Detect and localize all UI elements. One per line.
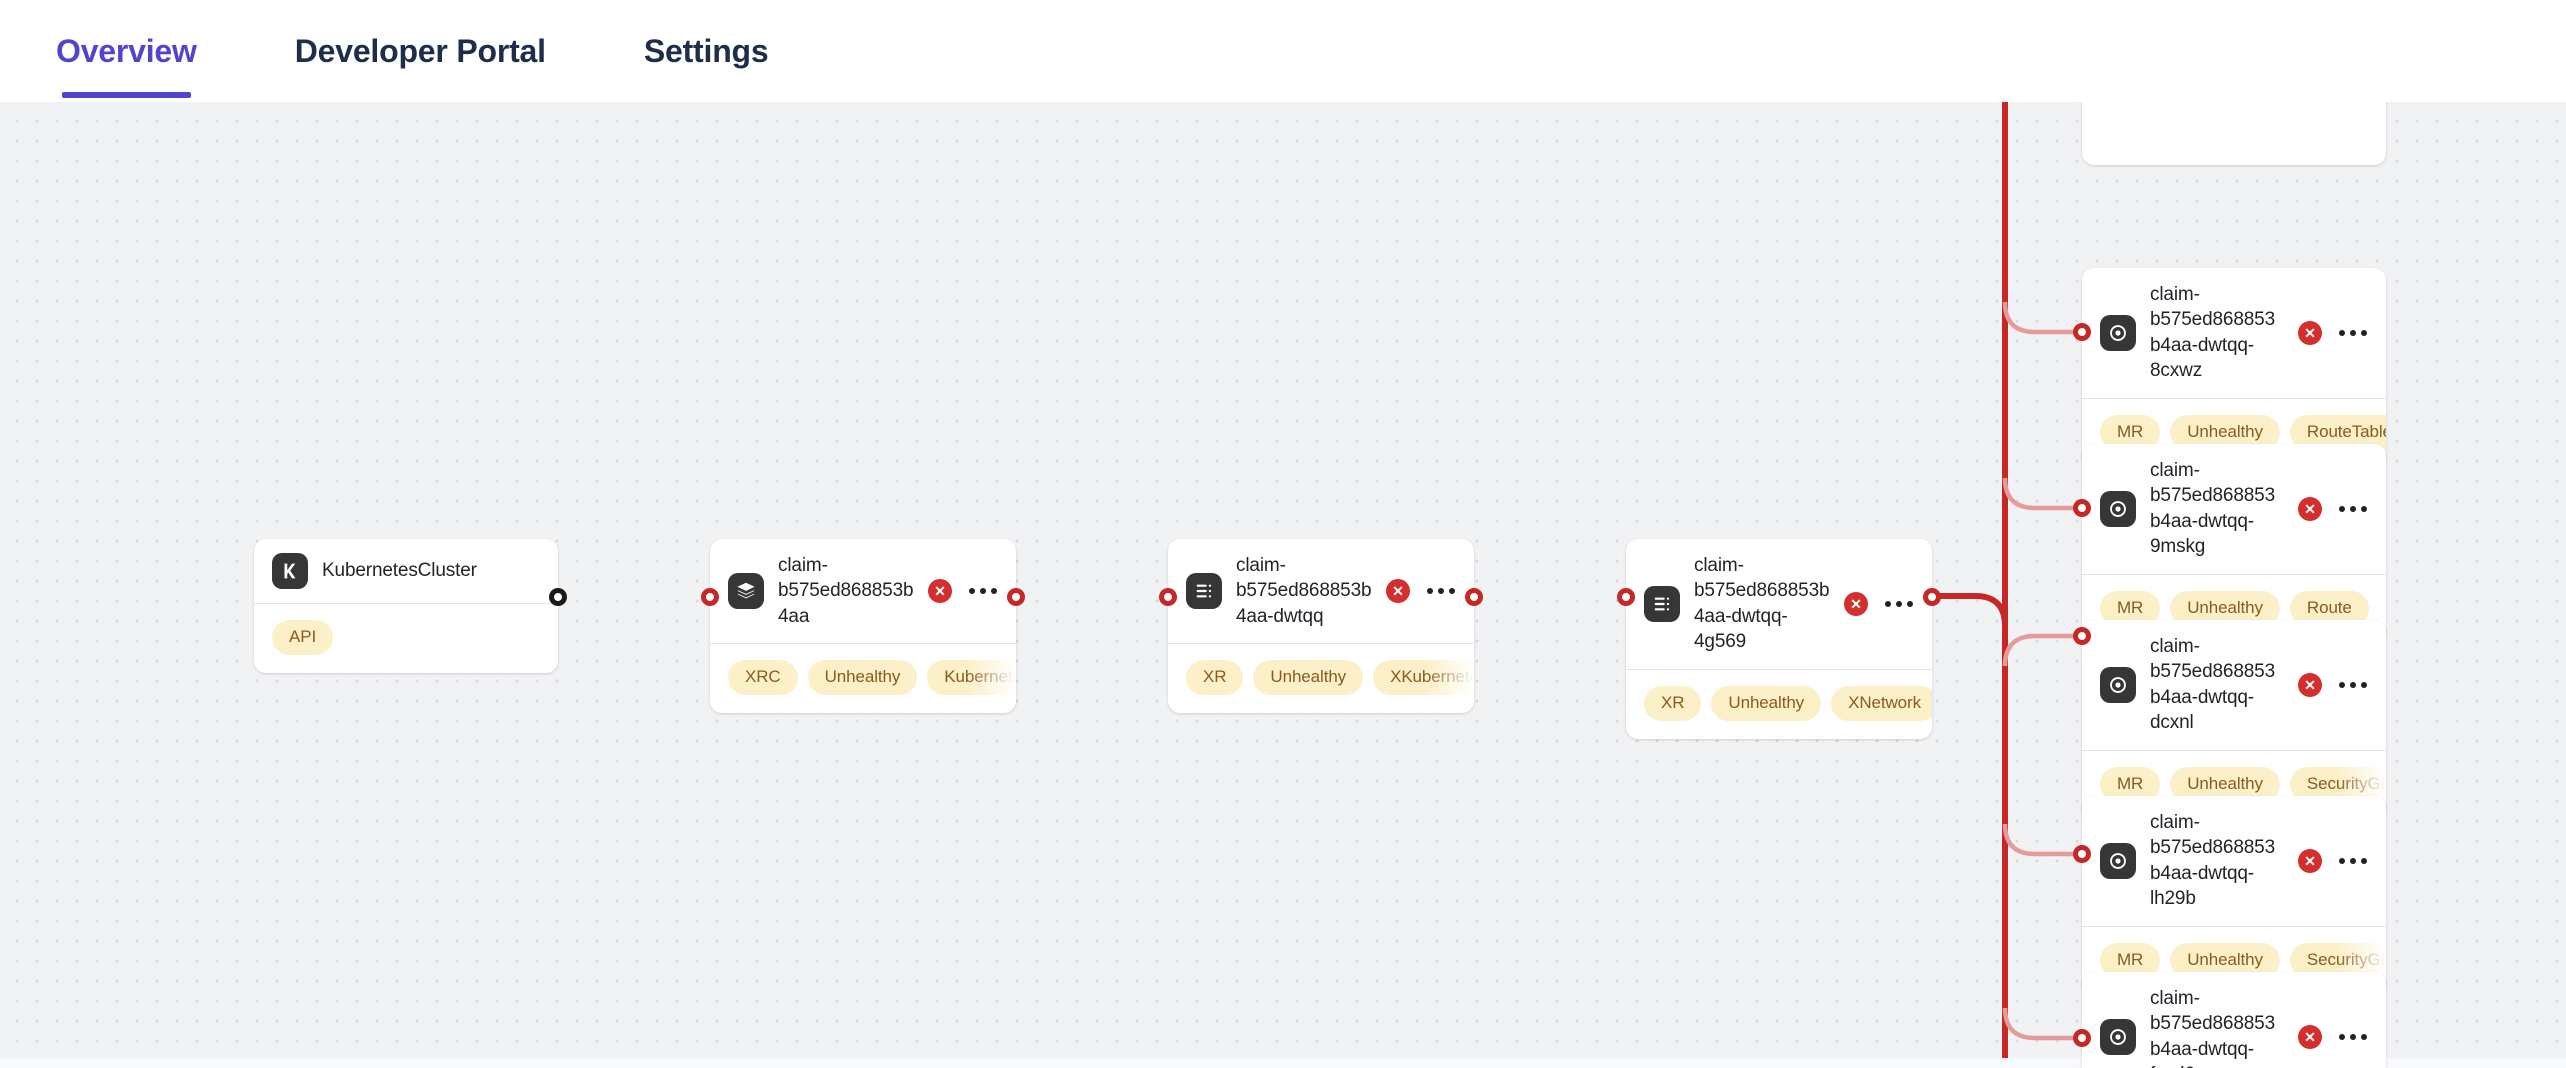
tag-health: Unhealthy — [808, 660, 918, 695]
list-rows-icon — [1644, 586, 1680, 622]
node-menu-button[interactable] — [966, 579, 1000, 603]
node-title: claim-b575ed868853b4aa-dwtqq-4g569 — [1694, 553, 1830, 655]
handle-target-claim-b575ed868853b4aa[interactable] — [701, 588, 719, 606]
status-badge-error: ✕ — [928, 579, 952, 603]
node-claim-dwtqq-9mskg[interactable]: claim-b575ed868853b4aa-dwtqq-9mskg ✕ MR … — [2082, 444, 2386, 644]
edge-branch-9mskg — [2005, 478, 2082, 508]
layers-icon — [728, 573, 764, 609]
node-header: claim-b575ed868853b4aa-dwtqq-8cxwz ✕ — [2082, 268, 2386, 398]
node-title: claim-b575ed868853b4aa-dwtqq-9mskg — [2150, 458, 2284, 560]
tab-overview[interactable]: Overview — [56, 0, 197, 102]
node-header: claim-b575ed868853b4aa-dwtqq ✕ — [1168, 539, 1474, 643]
edge-branch-8cxwz — [2005, 302, 2082, 332]
node-header: claim-b575ed868853b4aa-dwtqq-dcxnl ✕ — [2082, 620, 2386, 750]
node-kubernetes-cluster[interactable]: KubernetesCluster API — [254, 539, 558, 673]
handle-target-claim-dwtqq-8cxwz[interactable] — [2073, 323, 2091, 341]
status-badge-error: ✕ — [1844, 592, 1868, 616]
node-claim-dwtqq-4g569[interactable]: claim-b575ed868853b4aa-dwtqq-4g569 ✕ XR … — [1626, 539, 1932, 739]
handle-target-claim-dwtqq-4g569[interactable] — [1617, 588, 1635, 606]
tag-kind: XRC — [728, 660, 798, 695]
node-partial-top[interactable] — [2082, 102, 2386, 165]
status-badge-error: ✕ — [2298, 849, 2322, 873]
node-header: claim-b575ed868853b4aa-dwtqq-4g569 ✕ — [1626, 539, 1932, 669]
tab-settings-label: Settings — [644, 33, 769, 70]
node-tag-list: XRC Unhealthy KubernetesCluster — [710, 644, 1016, 713]
node-menu-button[interactable] — [2336, 497, 2370, 521]
node-title: claim-b575ed868853b4aa-dwtqq — [1236, 553, 1372, 629]
node-title: claim-b575ed868853b4aa-dwtqq-lh29b — [2150, 810, 2284, 912]
status-badge-error: ✕ — [2298, 673, 2322, 697]
handle-target-claim-dwtqq-dcxnl[interactable] — [2073, 627, 2091, 645]
node-tag-list: API — [254, 604, 558, 673]
node-claim-dwtqq-fzcd6[interactable]: claim-b575ed868853b4aa-dwtqq-fzcd6 ✕ MR … — [2082, 972, 2386, 1068]
main-tab-bar: Overview Developer Portal Settings — [0, 0, 2566, 102]
node-title: claim-b575ed868853b4aa-dwtqq-fzcd6 — [2150, 986, 2284, 1068]
edge-branch-dcxnl — [2005, 636, 2082, 666]
handle-source-claim-dwtqq-4g569[interactable] — [1923, 588, 1941, 606]
tag-type: XKubernetesCluster — [1373, 660, 1474, 695]
node-header: claim-b575ed868853b4aa-dwtqq-9mskg ✕ — [2082, 444, 2386, 574]
node-menu-button[interactable] — [2336, 673, 2370, 697]
status-badge-error: ✕ — [1386, 579, 1410, 603]
node-claim-dwtqq-dcxnl[interactable]: claim-b575ed868853b4aa-dwtqq-dcxnl ✕ MR … — [2082, 620, 2386, 820]
tab-developer-portal[interactable]: Developer Portal — [295, 0, 546, 102]
resource-graph-canvas[interactable]: KubernetesCluster API claim-b575ed868853… — [0, 102, 2566, 1068]
tag-kind: XR — [1186, 660, 1243, 695]
handle-target-claim-dwtqq-fzcd6[interactable] — [2073, 1029, 2091, 1047]
tab-overview-label: Overview — [56, 33, 197, 70]
node-tag-list: XR Unhealthy XKubernetesCluster — [1168, 644, 1474, 713]
node-header: claim-b575ed868853b4aa-dwtqq-lh29b ✕ — [2082, 796, 2386, 926]
edge-branch-lh29b — [2005, 824, 2082, 854]
node-header: KubernetesCluster — [254, 539, 558, 603]
node-menu-button[interactable] — [2336, 1025, 2370, 1049]
node-title: claim-b575ed868853b4aa-dwtqq-8cxwz — [2150, 282, 2284, 384]
node-claim-dwtqq[interactable]: claim-b575ed868853b4aa-dwtqq ✕ XR Unheal… — [1168, 539, 1474, 713]
edge-branch-fzcd6 — [2005, 1008, 2082, 1038]
target-icon — [2100, 667, 2136, 703]
tag-type: XNetwork — [1831, 686, 1932, 721]
tag-type: KubernetesCluster — [927, 660, 1016, 695]
status-badge-error: ✕ — [2298, 321, 2322, 345]
status-badge-error: ✕ — [2298, 497, 2322, 521]
node-claim-dwtqq-8cxwz[interactable]: claim-b575ed868853b4aa-dwtqq-8cxwz ✕ MR … — [2082, 268, 2386, 468]
node-title: claim-b575ed868853b4aa-dwtqq-dcxnl — [2150, 634, 2284, 736]
handle-target-claim-dwtqq[interactable] — [1159, 588, 1177, 606]
handle-target-claim-dwtqq-9mskg[interactable] — [2073, 499, 2091, 517]
tag-health: Unhealthy — [1253, 660, 1363, 695]
node-tag-list: XR Unhealthy XNetwork — [1626, 670, 1932, 739]
target-icon — [2100, 315, 2136, 351]
kubernetes-logo-icon — [272, 553, 308, 589]
node-title: KubernetesCluster — [322, 558, 542, 583]
target-icon — [2100, 843, 2136, 879]
handle-source-claim-dwtqq[interactable] — [1465, 588, 1483, 606]
status-badge-error: ✕ — [2298, 1025, 2322, 1049]
node-header: claim-b575ed868853b4aa ✕ — [710, 539, 1016, 643]
target-icon — [2100, 491, 2136, 527]
target-icon — [2100, 1019, 2136, 1055]
node-menu-button[interactable] — [2336, 321, 2370, 345]
node-menu-button[interactable] — [2336, 849, 2370, 873]
node-menu-button[interactable] — [1424, 579, 1458, 603]
node-header: claim-b575ed868853b4aa-dwtqq-fzcd6 ✕ — [2082, 972, 2386, 1068]
node-claim-dwtqq-lh29b[interactable]: claim-b575ed868853b4aa-dwtqq-lh29b ✕ MR … — [2082, 796, 2386, 996]
handle-target-claim-dwtqq-lh29b[interactable] — [2073, 845, 2091, 863]
node-menu-button[interactable] — [1882, 592, 1916, 616]
node-claim-b575ed868853b4aa[interactable]: claim-b575ed868853b4aa ✕ XRC Unhealthy K… — [710, 539, 1016, 713]
edge-4g569-to-trunk — [1932, 596, 2005, 626]
tag-health: Unhealthy — [1711, 686, 1821, 721]
tag-kind: XR — [1644, 686, 1701, 721]
list-rows-icon — [1186, 573, 1222, 609]
node-title: claim-b575ed868853b4aa — [778, 553, 914, 629]
tab-settings[interactable]: Settings — [644, 0, 769, 102]
handle-source-claim-b575ed868853b4aa[interactable] — [1007, 588, 1025, 606]
tab-developer-portal-label: Developer Portal — [295, 33, 546, 70]
handle-source-kubernetes-cluster[interactable] — [549, 588, 567, 606]
tag-api: API — [272, 620, 333, 655]
